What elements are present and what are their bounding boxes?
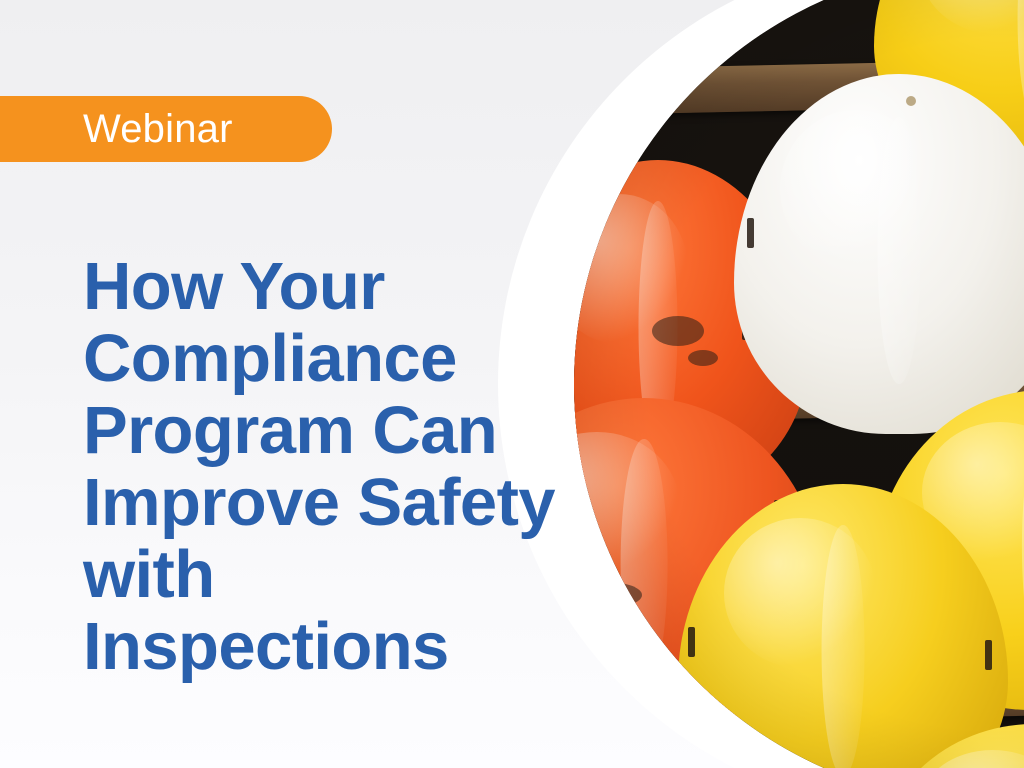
hard-hats-photo xyxy=(574,0,1024,768)
title-line-2: Compliance xyxy=(83,323,603,395)
title-line-4: Improve Safety xyxy=(83,467,603,539)
webinar-badge-label: Webinar xyxy=(83,109,233,149)
title-line-5: with xyxy=(83,539,603,611)
page-title: How Your Compliance Program Can Improve … xyxy=(83,251,603,683)
webinar-badge: Webinar xyxy=(0,96,332,162)
title-line-6: Inspections xyxy=(83,611,603,683)
banner-canvas: Webinar How Your Compliance Program Can … xyxy=(0,0,1024,768)
title-line-1: How Your xyxy=(83,251,603,323)
title-line-3: Program Can xyxy=(83,395,603,467)
